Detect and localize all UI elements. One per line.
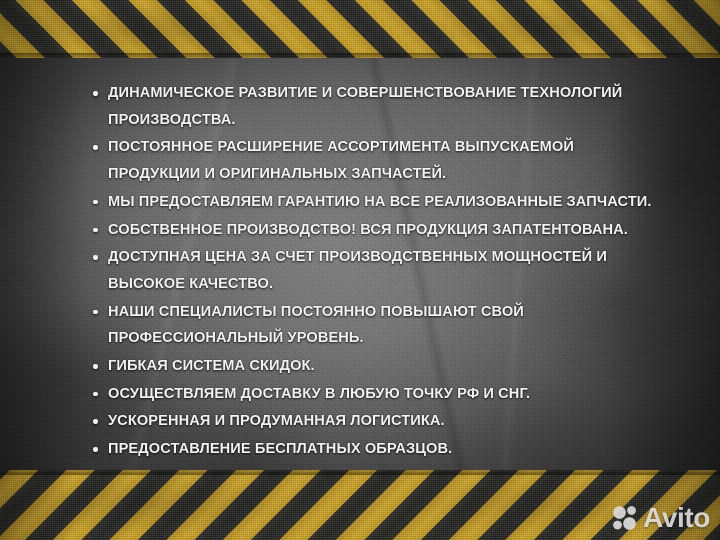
list-item: НАШИ СПЕЦИАЛИСТЫ ПОСТОЯННО ПОВЫШАЮТ СВОЙ… [88,299,664,352]
list-item: СОБСТВЕННОЕ ПРОИЗВОДСТВО! ВСЯ ПРОДУКЦИЯ … [88,217,664,244]
hazard-stripe-band-top [0,0,720,58]
list-item: УСКОРЕННАЯ И ПРОДУМАННАЯ ЛОГИСТИКА. [88,408,664,435]
list-item: МЫ ПРЕДОСТАВЛЯЕМ ГАРАНТИЮ НА ВСЕ РЕАЛИЗО… [88,189,664,216]
hazard-shade-top [0,0,720,58]
avito-dots-icon [612,505,638,531]
avito-brand-text: Avito [643,504,710,532]
list-item: ДИНАМИЧЕСКОЕ РАЗВИТИЕ И СОВЕРШЕНСТВОВАНИ… [88,80,664,133]
list-item: ПРЕДОСТАВЛЕНИЕ БЕСПЛАТНЫХ ОБРАЗЦОВ. [88,436,664,463]
bullet-list-container: ДИНАМИЧЕСКОЕ РАЗВИТИЕ И СОВЕРШЕНСТВОВАНИ… [88,80,664,519]
hazard-poster: ДИНАМИЧЕСКОЕ РАЗВИТИЕ И СОВЕРШЕНСТВОВАНИ… [0,0,720,540]
list-item: ОСУЩЕСТВЛЯЕМ ДОСТАВКУ В ЛЮБУЮ ТОЧКУ РФ И… [88,381,664,408]
list-item: ДОСТУПНАЯ ЦЕНА ЗА СЧЕТ ПРОИЗВОДСТВЕННЫХ … [88,244,664,297]
feature-bullet-list: ДИНАМИЧЕСКОЕ РАЗВИТИЕ И СОВЕРШЕНСТВОВАНИ… [88,80,664,518]
avito-watermark: Avito [612,504,710,532]
hazard-edge-shadow-bottom [0,470,720,475]
hazard-edge-shadow-top [0,53,720,58]
list-item: ПОСТОЯННОЕ РАСШИРЕНИЕ АССОРТИМЕНТА ВЫПУС… [88,134,664,187]
list-item: ГИБКАЯ СИСТЕМА СКИДОК. [88,353,664,380]
